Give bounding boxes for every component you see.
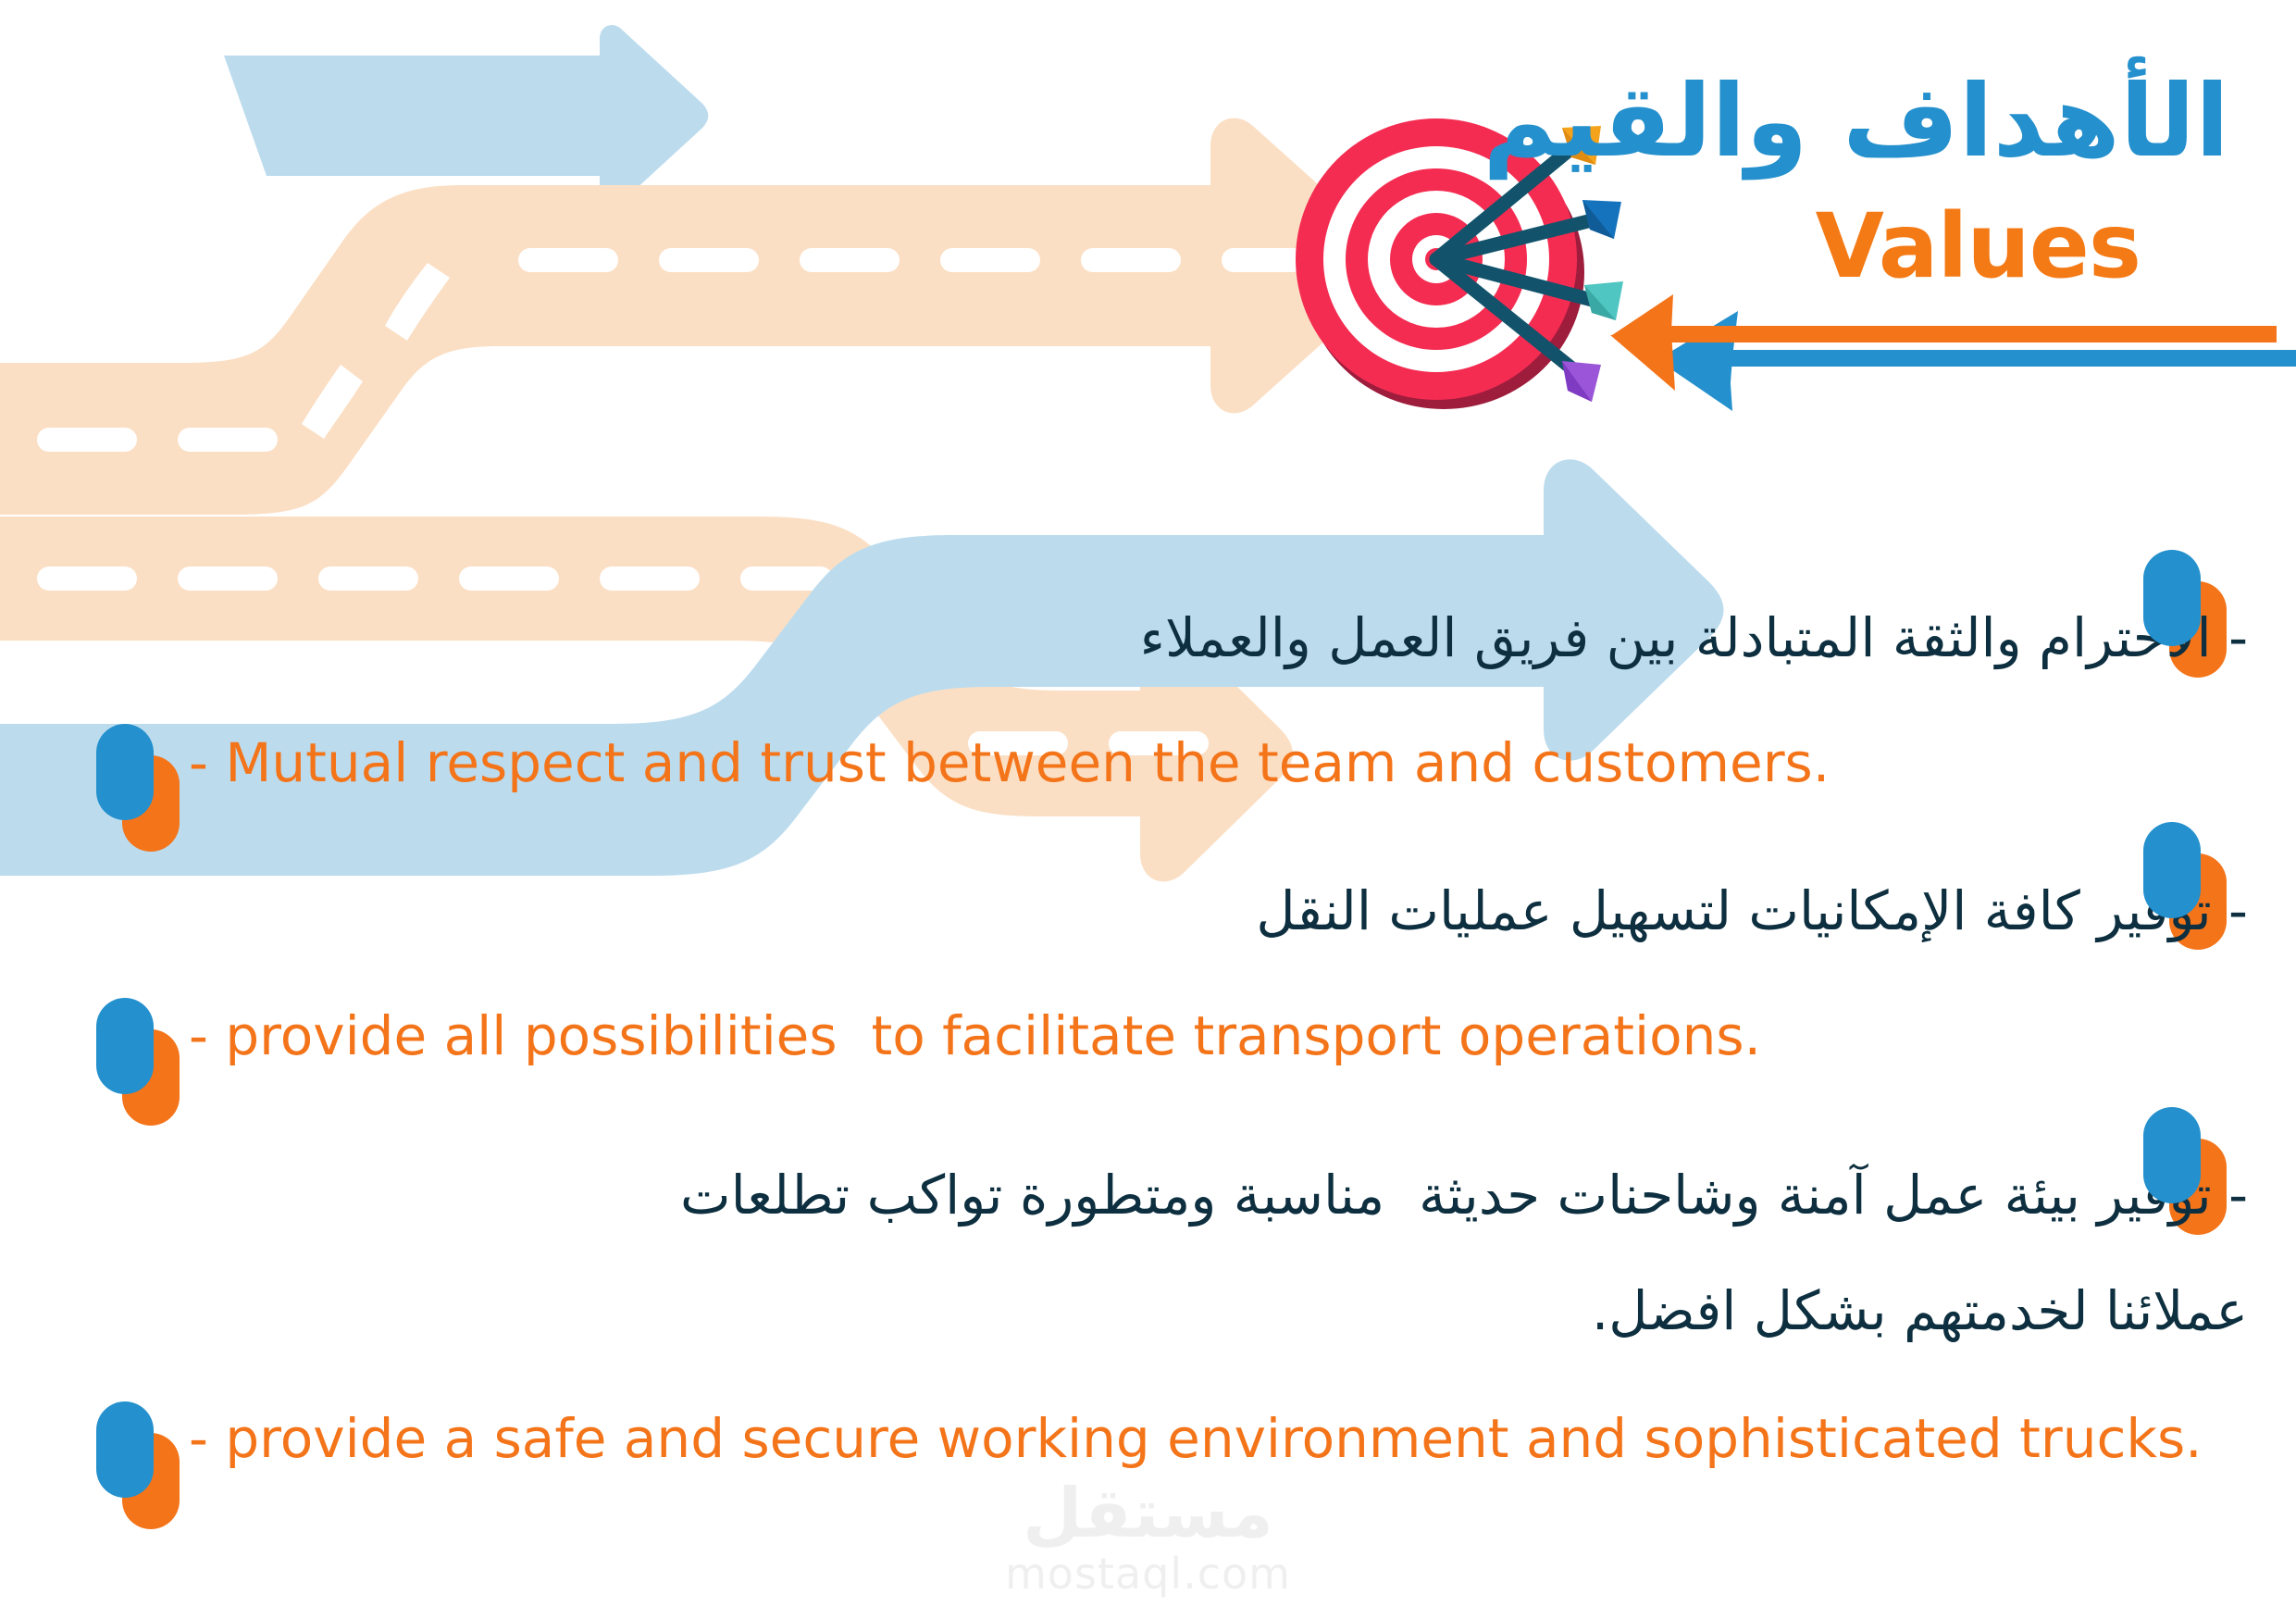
watermark-latin: mostaql.com — [954, 1548, 1343, 1601]
title-underline-arrows — [1610, 294, 2296, 411]
pill-blue — [96, 724, 154, 820]
value-2-english: - provide all possibilities to facilitat… — [189, 1009, 1761, 1063]
value-1-english: - Mutual respect and trust between the t… — [189, 736, 1830, 790]
value-1-arabic: - الاحترام والثقة المتبادلة بين فريق الع… — [1140, 611, 2248, 665]
bullet-marker-left-3 — [96, 1401, 185, 1531]
top-blue-arrow — [224, 25, 708, 206]
pill-blue — [2143, 550, 2201, 646]
pill-blue — [96, 1401, 154, 1498]
watermark-arabic: مستقل — [954, 1479, 1343, 1548]
peach-road-arrow-upper — [0, 118, 1395, 515]
watermark: مستقل mostaql.com — [954, 1479, 1343, 1601]
infographic-canvas: .peach { fill: #fbdfc4; } .lblue { fill:… — [0, 0, 2296, 1619]
page-title-english: Values — [1816, 202, 2141, 291]
value-3-english: - provide a safe and secure working envi… — [189, 1412, 2203, 1465]
pill-blue — [2143, 822, 2201, 918]
arrow-fletching-blue — [1582, 200, 1621, 239]
value-3-arabic-line-1: - توفير بيئة عمل آمنة وشاحنات حديثة مناس… — [680, 1168, 2248, 1222]
bullet-marker-left-2 — [96, 998, 185, 1127]
value-2-arabic: - توفير كافة الإمكانيات لتسهيل عمليات ال… — [1256, 884, 2248, 938]
page-title-arabic: الأهداف والقيم — [1483, 72, 2229, 172]
arrow-fletching-teal — [1584, 281, 1623, 320]
blue-road-arrow-lower — [0, 724, 111, 876]
bullet-marker-left-1 — [96, 724, 185, 853]
pill-blue — [2143, 1107, 2201, 1203]
pill-blue — [96, 998, 154, 1094]
arrow-fletching-purple — [1562, 361, 1601, 402]
value-3-arabic-line-2: عملائنا لخدمتهم بشكل افضل. — [1592, 1284, 2248, 1338]
